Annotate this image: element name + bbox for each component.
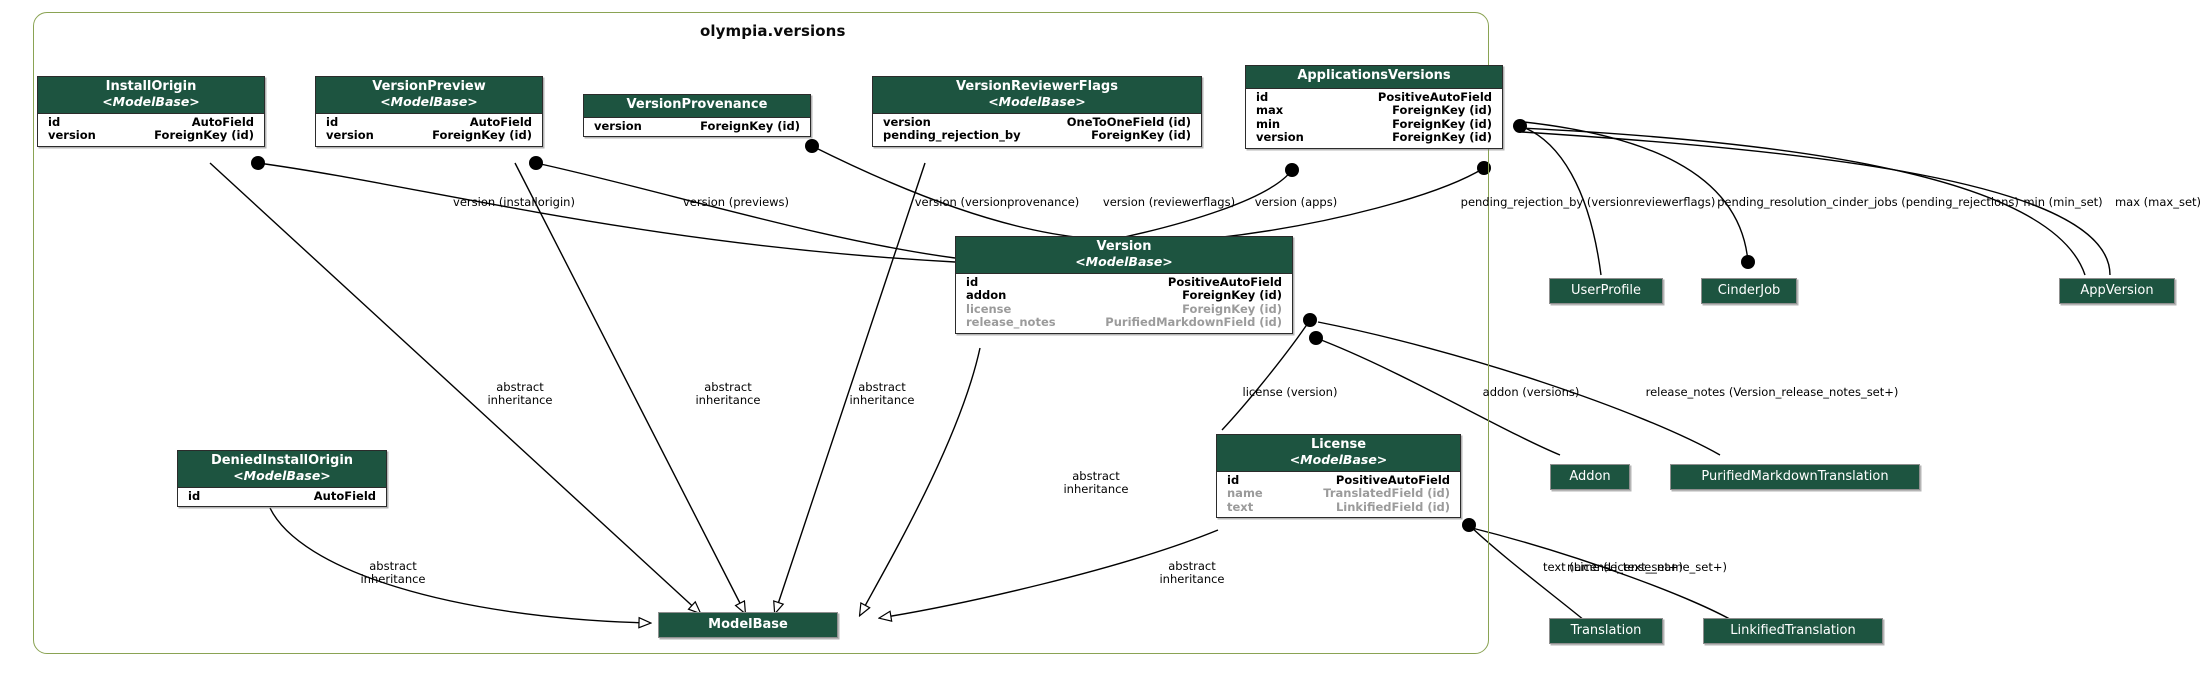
entity-name: DeniedInstallOrigin [186,454,378,469]
entity-fields: id PositiveAutoField name TranslatedFiel… [1217,472,1460,518]
edge-label-abstract-3: abstract inheritance [849,381,914,407]
field-name: release_notes [962,316,1056,330]
field-name: license [962,303,1011,317]
edge-label-release-notes: release_notes (Version_release_notes_set… [1646,386,1899,399]
entity-base: <ModelBase> [1225,453,1452,467]
edge-label-abstract-5: abstract inheritance [1159,560,1224,586]
field-type: ForeignKey (id) [1182,289,1286,303]
field-type: ForeignKey (id) [154,129,258,143]
edge-label-abstract-2: abstract inheritance [695,381,760,407]
node-linkifiedtranslation[interactable]: LinkifiedTranslation [1703,618,1883,644]
field-type: TranslatedField (id) [1323,487,1454,501]
entity-name: License [1225,438,1452,453]
entity-versionreviewerflags[interactable]: VersionReviewerFlags <ModelBase> version… [872,76,1202,147]
field-type: AutoField [192,116,258,130]
edge-label-license-version: license (version) [1243,386,1338,399]
field-name: version [590,120,642,134]
field-name: version [1252,131,1304,145]
entity-header: Version <ModelBase> [956,237,1292,274]
edge-label-abstract-1: abstract inheritance [487,381,552,407]
field-type: ForeignKey (id) [700,120,804,134]
edge-label-previews: version (previews) [683,196,789,209]
field-type: ForeignKey (id) [432,129,536,143]
table-row: text LinkifiedField (id) [1217,501,1460,515]
table-row: id PositiveAutoField [1246,91,1502,105]
entity-fields: id PositiveAutoField max ForeignKey (id)… [1246,89,1502,148]
entity-fields: id AutoField [178,488,386,507]
entity-name: InstallOrigin [46,80,256,95]
entity-installorigin[interactable]: InstallOrigin <ModelBase> id AutoField v… [37,76,265,147]
table-row: version ForeignKey (id) [1246,131,1502,145]
entity-name: VersionProvenance [592,98,802,113]
edge-license-text-linkified [1472,528,1740,625]
field-name: min [1252,118,1280,132]
table-row: version OneToOneField (id) [873,116,1201,130]
entity-base: <ModelBase> [964,255,1284,269]
edge-pendingresolution-cinderjob [1524,122,1748,262]
field-type: ForeignKey (id) [1091,129,1195,143]
field-name: max [1252,104,1283,118]
field-name: id [1223,474,1239,488]
field-name: id [1252,91,1268,105]
node-translation[interactable]: Translation [1549,618,1663,644]
edge-label-pending-rejection-by: pending_rejection_by (versionreviewerfla… [1461,196,1716,209]
edge-label-versionprovenance: version (versionprovenance) [915,196,1080,209]
entity-header: InstallOrigin <ModelBase> [38,77,264,114]
entity-fields: version OneToOneField (id) pending_rejec… [873,114,1201,146]
node-modelbase[interactable]: ModelBase [658,612,838,638]
table-row: id PositiveAutoField [1217,474,1460,488]
field-type: PositiveAutoField [1378,91,1496,105]
table-row: version ForeignKey (id) [584,120,810,134]
entity-header: VersionPreview <ModelBase> [316,77,542,114]
entity-header: DeniedInstallOrigin <ModelBase> [178,451,386,488]
edge-label-apps: version (apps) [1255,196,1337,209]
entity-fields: id AutoField version ForeignKey (id) [316,114,542,146]
table-row: id AutoField [316,116,542,130]
entity-fields: id AutoField version ForeignKey (id) [38,114,264,146]
table-row: id AutoField [178,490,386,504]
table-row: addon ForeignKey (id) [956,289,1292,303]
table-row: license ForeignKey (id) [956,303,1292,317]
table-row: name TranslatedField (id) [1217,487,1460,501]
table-row: version ForeignKey (id) [38,129,264,143]
entity-name: VersionPreview [324,80,534,95]
table-row: id PositiveAutoField [956,276,1292,290]
field-name: id [322,116,338,130]
entity-header: VersionReviewerFlags <ModelBase> [873,77,1201,114]
field-type: ForeignKey (id) [1392,118,1496,132]
entity-versionprovenance[interactable]: VersionProvenance version ForeignKey (id… [583,94,811,137]
edge-label-license-text: text (License_text_set+) [1543,561,1683,574]
entity-header: VersionProvenance [584,95,810,118]
field-name: name [1223,487,1263,501]
field-type: PurifiedMarkdownField (id) [1105,316,1286,330]
cluster-title: olympia.versions [700,22,845,40]
node-addon[interactable]: Addon [1550,464,1630,490]
field-type: PositiveAutoField [1336,474,1454,488]
edge-dot [1741,255,1755,269]
entity-fields: version ForeignKey (id) [584,118,810,137]
edge-label-installorigin: version (installorigin) [453,196,575,209]
entity-name: ApplicationsVersions [1254,69,1494,84]
table-row: max ForeignKey (id) [1246,104,1502,118]
field-name: id [962,276,978,290]
entity-versionpreview[interactable]: VersionPreview <ModelBase> id AutoField … [315,76,543,147]
field-type: LinkifiedField (id) [1336,501,1454,515]
entity-header: License <ModelBase> [1217,435,1460,472]
node-cinderjob[interactable]: CinderJob [1701,278,1797,304]
edge-label-abstract-4: abstract inheritance [1063,470,1128,496]
field-name: version [322,129,374,143]
table-row: min ForeignKey (id) [1246,118,1502,132]
field-name: version [879,116,931,130]
node-purifiedmarkdowntranslation[interactable]: PurifiedMarkdownTranslation [1670,464,1920,490]
field-name: text [1223,501,1253,515]
diagram-canvas: olympia.versions InstallOrigin <ModelBas… [0,0,2201,680]
table-row: pending_rejection_by ForeignKey (id) [873,129,1201,143]
field-type: ForeignKey (id) [1392,104,1496,118]
table-row: release_notes PurifiedMarkdownField (id) [956,316,1292,330]
entity-applicationsversions[interactable]: ApplicationsVersions id PositiveAutoFiel… [1245,65,1503,149]
field-type: AutoField [470,116,536,130]
entity-name: Version [964,240,1284,255]
field-name: addon [962,289,1006,303]
entity-base: <ModelBase> [324,95,534,109]
entity-version[interactable]: Version <ModelBase> id PositiveAutoField… [955,236,1293,334]
field-name: pending_rejection_by [879,129,1021,143]
field-name: id [184,490,200,504]
edge-dot [1513,119,1527,133]
entity-header: ApplicationsVersions [1246,66,1502,89]
entity-base: <ModelBase> [881,95,1193,109]
entity-license[interactable]: License <ModelBase> id PositiveAutoField… [1216,434,1461,518]
table-row: id AutoField [38,116,264,130]
entity-fields: id PositiveAutoField addon ForeignKey (i… [956,274,1292,333]
node-appversion[interactable]: AppVersion [2059,278,2175,304]
entity-name: VersionReviewerFlags [881,80,1193,95]
field-type: ForeignKey (id) [1182,303,1286,317]
field-name: version [44,129,96,143]
edge-label-abstract-6: abstract inheritance [360,560,425,586]
edge-label-min: min (min_set) [2023,196,2102,209]
entity-base: <ModelBase> [46,95,256,109]
edge-label-pending-resolution: pending_resolution_cinder_jobs (pending_… [1717,196,2019,209]
field-type: PositiveAutoField [1168,276,1286,290]
edge-label-reviewerflags: version (reviewerflags) [1103,196,1235,209]
field-type: ForeignKey (id) [1392,131,1496,145]
edge-label-max: max (max_set) [2115,196,2201,209]
field-name: id [44,116,60,130]
entity-base: <ModelBase> [186,469,378,483]
entity-deniedinstallorigin[interactable]: DeniedInstallOrigin <ModelBase> id AutoF… [177,450,387,507]
table-row: version ForeignKey (id) [316,129,542,143]
node-userprofile[interactable]: UserProfile [1549,278,1663,304]
field-type: OneToOneField (id) [1067,116,1195,130]
edge-label-addon-versions: addon (versions) [1483,386,1580,399]
field-type: AutoField [314,490,380,504]
